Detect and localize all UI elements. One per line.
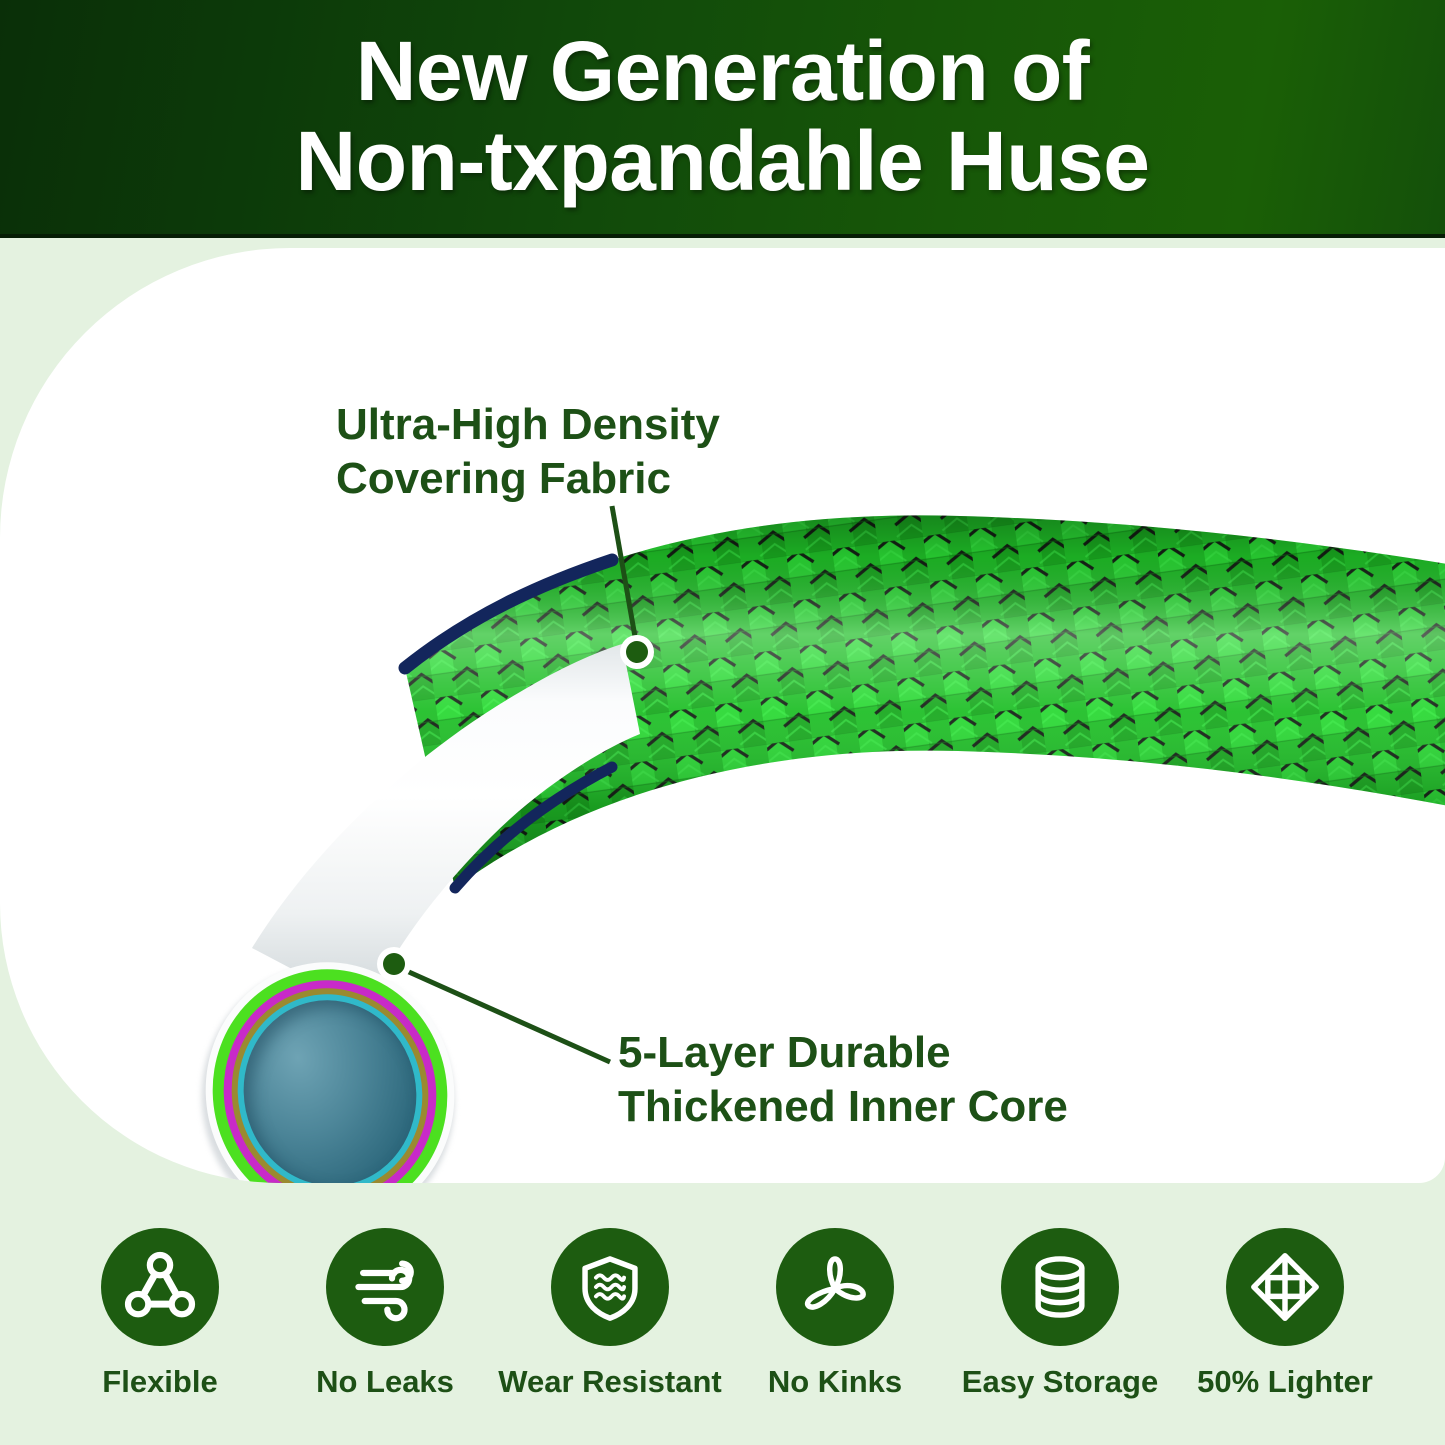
feature-label-easy-storage: Easy Storage [962,1364,1158,1400]
feature-item-easy-storage[interactable]: Easy Storage [962,1228,1158,1428]
annotation-covering-fabric: Ultra-High Density Covering Fabric [336,398,720,506]
feature-label-wear-resistant: Wear Resistant [498,1364,721,1400]
cut-end-surface [252,644,640,1008]
feature-item-50-lighter[interactable]: 50% Lighter [1187,1228,1383,1428]
feature-badge-row: Flexible No Leaks [0,1228,1445,1428]
feature-circle-easy-storage [1001,1228,1119,1346]
feature-label-no-leaks: No Leaks [316,1364,454,1400]
feature-label-50-lighter: 50% Lighter [1197,1364,1373,1400]
flexible-triangle-nodes-icon [121,1248,199,1326]
feature-circle-50-lighter [1226,1228,1344,1346]
shield-waves-icon [571,1248,649,1326]
feature-label-flexible: Flexible [102,1364,217,1400]
feature-item-no-kinks[interactable]: No Kinks [737,1228,933,1428]
feature-circle-no-kinks [776,1228,894,1346]
coiled-stack-icon [1021,1248,1099,1326]
feature-circle-flexible [101,1228,219,1346]
feature-label-no-kinks: No Kinks [768,1364,902,1400]
diamond-layers-icon [1246,1248,1324,1326]
feature-item-no-leaks[interactable]: No Leaks [287,1228,483,1428]
annotation-inner-core: 5-Layer Durable Thickened Inner Core [618,1026,1068,1134]
feature-circle-no-leaks [326,1228,444,1346]
header-banner: New Generation of Non-txpandahle Huse [0,0,1445,238]
feature-circle-wear-resistant [551,1228,669,1346]
infographic-page: New Generation of Non-txpandahle Huse [0,0,1445,1445]
page-title: New Generation of Non-txpandahle Huse [0,26,1445,206]
trefoil-knot-icon [796,1248,874,1326]
feature-item-wear-resistant[interactable]: Wear Resistant [512,1228,708,1428]
feature-item-flexible[interactable]: Flexible [62,1228,258,1428]
wind-airflow-icon [346,1248,424,1326]
